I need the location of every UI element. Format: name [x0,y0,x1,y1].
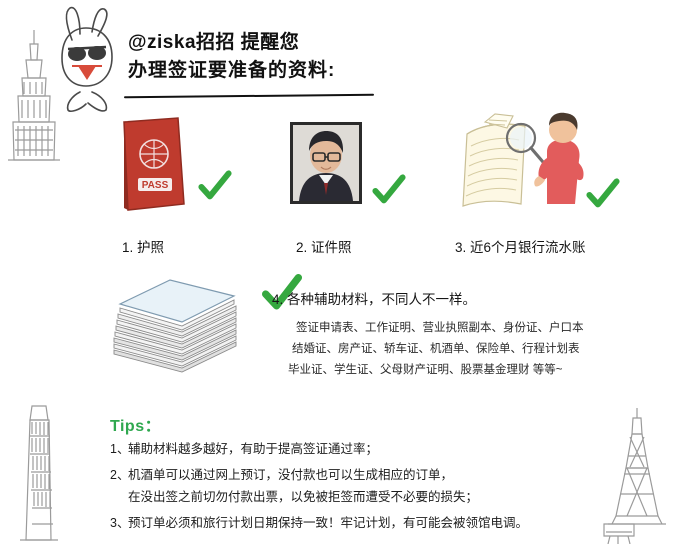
requirements-row: PASS [0,108,680,258]
tip-line: 预订单必须和旅行计划日期保持一致！牢记计划，有可能会被领馆电调。 [128,512,528,534]
bunny-mascot-icon [36,4,136,114]
tip-item: 1、 辅助材料越多越好，有助于提高签证通过率； [110,438,630,460]
tip-number: 3、 [110,512,128,534]
tip-line: 机酒单可以通过网上预订，没付款也可以生成相应的订单， [128,464,478,486]
tips-list: 1、 辅助材料越多越好，有助于提高签证通过率； 2、 机酒单可以通过网上预订，没… [110,438,630,538]
green-check-icon [586,178,620,212]
item4-detail-line: 结婚证、房产证、轿车证、机酒单、保险单、行程计划表 [292,339,666,360]
item4-detail-line: 签证申请表、工作证明、营业执照副本、身份证、户口本 [296,318,666,339]
id-photo-icon [290,122,362,204]
tips-heading: Tips： [110,412,161,436]
requirement-caption: 1. 护照 [122,236,164,256]
tip-body: 预订单必须和旅行计划日期保持一致！牢记计划，有可能会被领馆电调。 [128,512,528,534]
page-title-line1: @ziska招招 提醒您 [128,30,548,56]
page-title: @ziska招招 提醒您 办理签证要准备的资料: [128,30,548,86]
tip-line: 辅助材料越多越好，有助于提高签证通过率； [128,438,378,460]
tip-number: 1、 [110,438,128,460]
page-title-line2: 办理签证要准备的资料: [128,56,548,86]
tip-line: 在没出签之前切勿付款出票，以免被拒签而遭受不必要的损失； [128,486,478,508]
tip-item: 2、 机酒单可以通过网上预订，没付款也可以生成相应的订单， 在没出签之前切勿付款… [110,464,630,508]
tip-body: 辅助材料越多越好，有助于提高签证通过率； [128,438,378,460]
leaning-tower-of-pisa-icon [12,398,68,544]
requirement-caption: 2. 证件照 [296,236,352,256]
item4-title: 4. 各种辅助材料，不同人不一样。 [272,288,476,308]
document-stack-icon [112,278,240,378]
tip-item: 3、 预订单必须和旅行计划日期保持一致！牢记计划，有可能会被领馆电调。 [110,512,630,534]
tip-body: 机酒单可以通过网上预订，没付款也可以生成相应的订单， 在没出签之前切勿付款出票，… [128,464,478,508]
item4-detail-line: 毕业证、学生证、父母财产证明、股票基金理财 等等~ [288,360,666,381]
item4-detail-list: 签证申请表、工作证明、营业执照副本、身份证、户口本 结婚证、房产证、轿车证、机酒… [296,318,666,381]
green-check-icon [372,174,406,208]
title-underline [124,94,374,99]
tip-number: 2、 [110,464,128,508]
passport-icon: PASS [118,116,190,212]
svg-text:PASS: PASS [142,180,169,191]
requirement-caption: 3. 近6个月银行流水账 [455,236,586,256]
bank-statement-icon [455,108,595,216]
green-check-icon [198,170,232,204]
